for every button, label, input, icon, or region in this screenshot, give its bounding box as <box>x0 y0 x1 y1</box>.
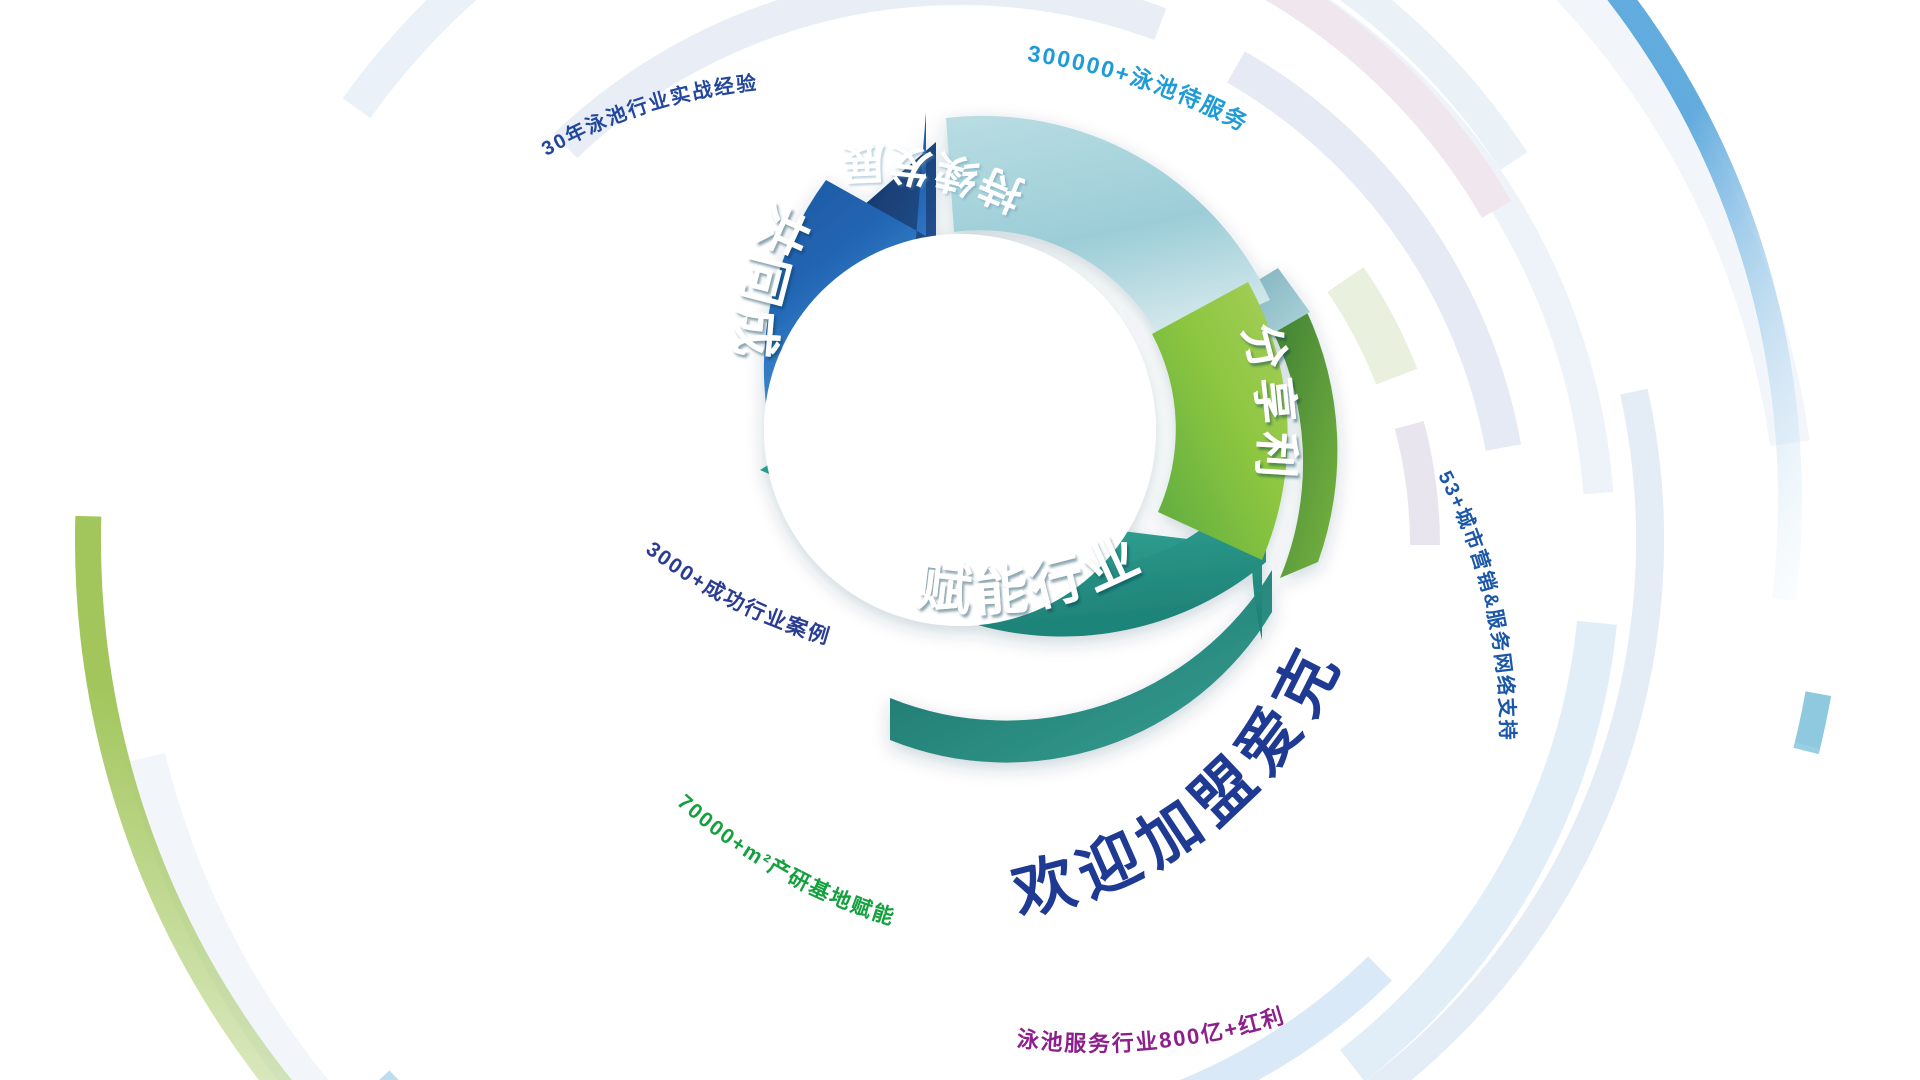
stat-rd-base: 70000+m²产研基地赋能 <box>673 790 899 930</box>
cycle-ring-graphic <box>760 112 1337 763</box>
stat-city-network: 53+城市营销&服务网络支持 <box>1433 468 1519 742</box>
stat-pools-to-serve: 300000+泳池待服务 <box>1026 40 1253 137</box>
poster-illustration: 共同成长 持续发展 分享利益 赋能行业 30年泳池行业实战经验 300000+泳… <box>0 0 1920 1080</box>
stat-cases: 3000+成功行业案例 <box>642 537 834 649</box>
poster-canvas: 共同成长 持续发展 分享利益 赋能行业 30年泳池行业实战经验 300000+泳… <box>0 0 1920 1080</box>
